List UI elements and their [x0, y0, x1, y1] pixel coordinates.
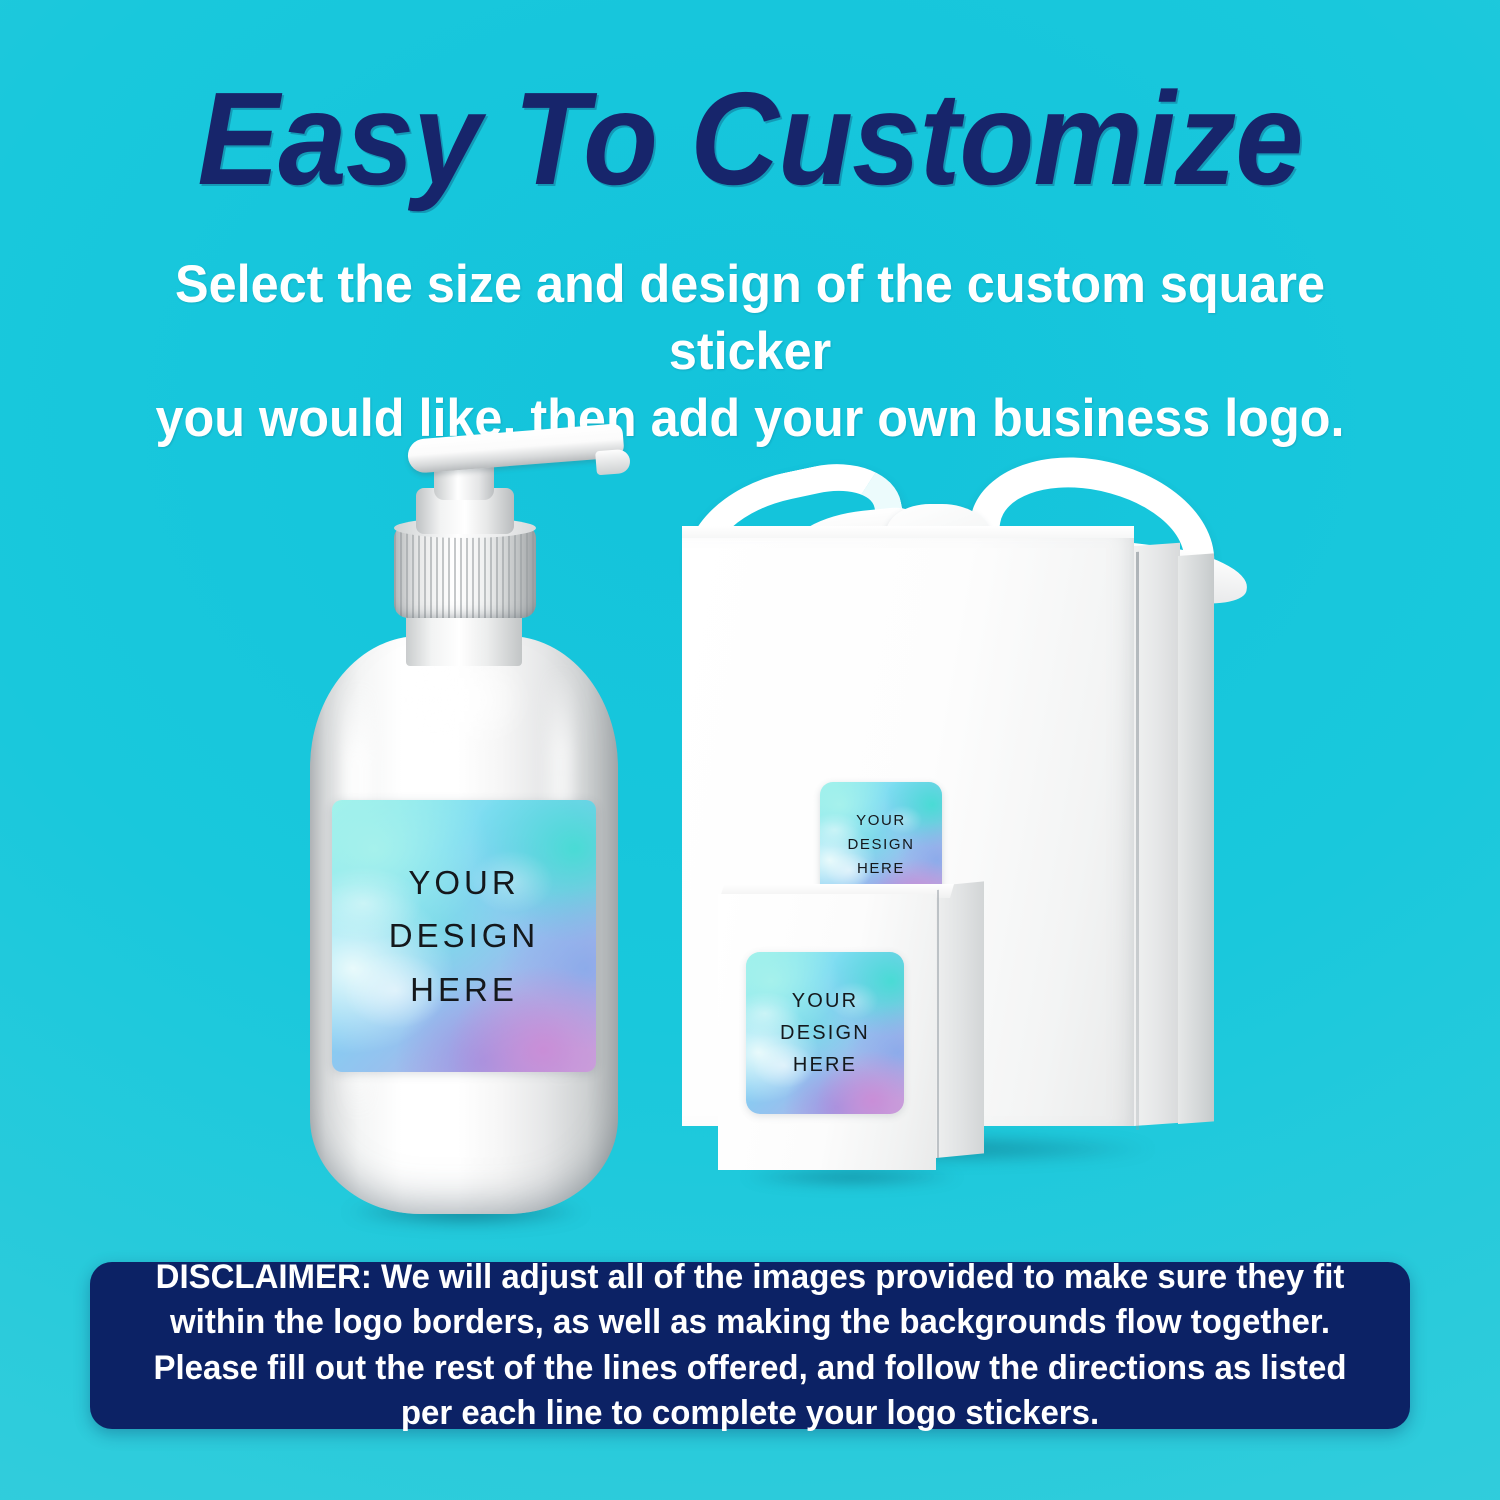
sticker-line-3: HERE: [410, 963, 518, 1016]
watercolor-artwork: YOUR DESIGN HERE: [332, 800, 596, 1072]
product-scene: YOUR DESIGN HERE: [0, 400, 1500, 1260]
sticker-line-3: HERE: [793, 1049, 857, 1081]
sticker-on-bottle: YOUR DESIGN HERE: [332, 800, 596, 1072]
disclaimer-banner: DISCLAIMER: We will adjust all of the im…: [90, 1262, 1410, 1429]
sticker-text: YOUR DESIGN HERE: [820, 782, 942, 908]
sticker-line-1: YOUR: [792, 985, 859, 1017]
sticker-line-1: YOUR: [408, 856, 519, 909]
sticker-line-1: YOUR: [856, 809, 906, 833]
bottle-ribbed-collar: [394, 526, 536, 618]
subtitle-line-1: Select the size and design of the custom…: [152, 252, 1349, 386]
sticker-line-2: DESIGN: [389, 909, 540, 962]
disclaimer-text: DISCLAIMER: We will adjust all of the im…: [110, 1255, 1390, 1436]
sticker-line-3: HERE: [857, 857, 905, 881]
gift-box-lid-seam: [1136, 552, 1139, 1130]
bottle-shoulder-highlight: [392, 652, 540, 772]
sticker-on-gift-box: YOUR DESIGN HERE: [820, 782, 942, 908]
sticker-on-product-box: YOUR DESIGN HERE: [746, 952, 904, 1114]
product-box-side-panel: [936, 881, 984, 1158]
pump-nozzle: [407, 423, 625, 474]
watercolor-artwork: YOUR DESIGN HERE: [820, 782, 942, 908]
small-product-box-mockup: YOUR DESIGN HERE: [706, 880, 996, 1190]
promo-graphic: Easy To Customize Select the size and de…: [0, 0, 1500, 1500]
sticker-line-2: DESIGN: [780, 1017, 870, 1049]
product-box-edge-seam: [937, 890, 939, 1158]
disclaimer-label: DISCLAIMER:: [156, 1258, 372, 1296]
sticker-text: YOUR DESIGN HERE: [332, 800, 596, 1072]
sticker-line-2: DESIGN: [847, 833, 914, 857]
pump-bottle-mockup: YOUR DESIGN HERE: [296, 430, 636, 1240]
gift-box-back-panel: [1178, 553, 1214, 1124]
watercolor-artwork: YOUR DESIGN HERE: [746, 952, 904, 1114]
gift-box-side-panel: [1134, 543, 1180, 1126]
page-title: Easy To Customize: [53, 72, 1448, 207]
pump-nozzle-tip: [595, 449, 631, 476]
sticker-text: YOUR DESIGN HERE: [746, 952, 904, 1114]
